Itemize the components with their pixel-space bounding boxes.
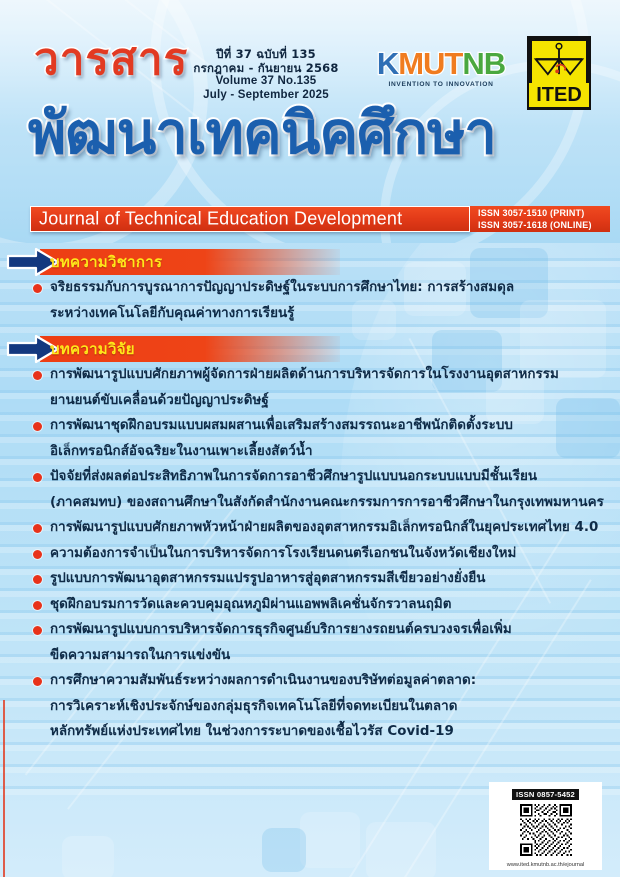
issn-print: ISSN 3057-1510 (PRINT) <box>478 207 610 219</box>
list-item[interactable]: การพัฒนาชุดฝึกอบรมแบบผสมผสานเพื่อเสริมสร… <box>0 413 620 464</box>
article-line: ปัจจัยที่ส่งผลต่อประสิทธิภาพในการจัดการอ… <box>50 464 606 490</box>
bullet-icon <box>33 284 42 293</box>
article-line: ชุดฝึกอบรมการวัดและควบคุมอุณหภูมิผ่านแอพ… <box>50 592 606 618</box>
article-line: ยานยนต์ขับเคลื่อนด้วยปัญญาประดิษฐ์ <box>50 388 606 414</box>
kmutnb-wordmark: KMUTNB <box>372 48 510 79</box>
ited-emblem-plate <box>532 41 586 85</box>
bullet-icon <box>33 575 42 584</box>
section-header-research: บทความวิจัย <box>0 336 620 362</box>
list-item[interactable]: การศึกษาความสัมพันธ์ระหว่างผลการดำเนินงา… <box>0 668 620 745</box>
list-item[interactable]: จริยธรรมกับการบูรณาการปัญญาประดิษฐ์ในระบ… <box>0 275 620 326</box>
qr-code-icon[interactable] <box>520 804 572 856</box>
kmutnb-letter-m: M <box>398 46 423 81</box>
kmutnb-logo: KMUTNB INVENTION TO INNOVATION <box>372 48 510 88</box>
journal-title-english-bar: Journal of Technical Education Developme… <box>30 206 470 232</box>
article-line: การพัฒนารูปแบบการบริหารจัดการธุรกิจศูนย์… <box>50 617 606 643</box>
bullet-icon <box>33 677 42 686</box>
volume-thai-number: ปีที่ 37 ฉบับที่ 135 <box>190 48 342 62</box>
bullet-icon <box>33 473 42 482</box>
journal-title-english: Journal of Technical Education Developme… <box>39 209 402 230</box>
bullet-icon <box>33 550 42 559</box>
article-list-academic: จริยธรรมกับการบูรณาการปัญญาประดิษฐ์ในระบ… <box>0 275 620 326</box>
kmutnb-letters-nb: NB <box>462 46 505 81</box>
article-line: การพัฒนารูปแบบศักยภาพผู้จัดการฝ่ายผลิตด้… <box>50 362 606 388</box>
article-line: ระหว่างเทคโนโลยีกับคุณค่าทางการเรียนรู้ <box>50 301 606 327</box>
bullet-icon <box>33 626 42 635</box>
article-line: การพัฒนารูปแบบศักยภาพหัวหน้าฝ่ายผลิตของอ… <box>50 515 606 541</box>
section-label: บทความวิชาการ <box>50 250 162 274</box>
article-line: (ภาคสมทบ) ของสถานศึกษาในสังกัดสำนักงานคณ… <box>50 490 606 516</box>
masthead: วารสาร ปีที่ 37 ฉบับที่ 135 กรกฎาคม - กั… <box>0 0 620 243</box>
section-header-academic: บทความวิชาการ <box>0 249 620 275</box>
journal-website-url[interactable]: www.ited.kmutnb.ac.th/ejournal <box>489 862 602 868</box>
article-line: การวิเคราะห์เชิงประจักษ์ของกลุ่มธุรกิจเท… <box>50 694 606 720</box>
qr-footer-card: ISSN 0857-5452 <box>489 782 602 870</box>
article-line: รูปแบบการพัฒนาอุตสาหกรรมแปรรูปอาหารสู่อุ… <box>50 566 606 592</box>
article-line: จริยธรรมกับการบูรณาการปัญญาประดิษฐ์ในระบ… <box>50 275 606 301</box>
article-list-research: การพัฒนารูปแบบศักยภาพผู้จัดการฝ่ายผลิตด้… <box>0 362 620 745</box>
issn-online: ISSN 3057-1618 (ONLINE) <box>478 219 610 231</box>
list-item[interactable]: ชุดฝึกอบรมการวัดและควบคุมอุณหภูมิผ่านแอพ… <box>0 592 620 618</box>
article-line: การพัฒนาชุดฝึกอบรมแบบผสมผสานเพื่อเสริมสร… <box>50 413 606 439</box>
bullet-icon <box>33 422 42 431</box>
list-item[interactable]: การพัฒนารูปแบบศักยภาพผู้จัดการฝ่ายผลิตด้… <box>0 362 620 413</box>
bullet-icon <box>33 371 42 380</box>
kmutnb-letters-ut: UT <box>423 46 462 81</box>
article-line: การศึกษาความสัมพันธ์ระหว่างผลการดำเนินงา… <box>50 668 606 694</box>
ited-logo: ITED <box>527 36 591 110</box>
kmutnb-tagline: INVENTION TO INNOVATION <box>372 81 510 88</box>
issn-legacy-badge: ISSN 0857-5452 <box>512 789 579 800</box>
section-label: บทความวิจัย <box>50 337 135 361</box>
list-item[interactable]: ปัจจัยที่ส่งผลต่อประสิทธิภาพในการจัดการอ… <box>0 464 620 515</box>
article-line: อิเล็กทรอนิกส์อัจฉริยะในงานเพาะเลี้ยงสัต… <box>50 439 606 465</box>
volume-thai-period: กรกฎาคม - กันยายน 2568 <box>190 62 342 76</box>
kmutnb-letter-k: K <box>377 46 398 81</box>
list-item[interactable]: ความต้องการจำเป็นในการบริหารจัดการโรงเรี… <box>0 541 620 567</box>
list-item[interactable]: การพัฒนารูปแบบศักยภาพหัวหน้าฝ่ายผลิตของอ… <box>0 515 620 541</box>
article-line: ความต้องการจำเป็นในการบริหารจัดการโรงเรี… <box>50 541 606 567</box>
issn-top-block: ISSN 3057-1510 (PRINT) ISSN 3057-1618 (O… <box>470 206 610 232</box>
bullet-icon <box>33 524 42 533</box>
list-item[interactable]: การพัฒนารูปแบบการบริหารจัดการธุรกิจศูนย์… <box>0 617 620 668</box>
article-line: หลักทรัพย์แห่งประเทศไทย ในช่วงการระบาดขอ… <box>50 719 606 745</box>
journal-cover: วารสาร ปีที่ 37 ฉบับที่ 135 กรกฎาคม - กั… <box>0 0 620 877</box>
journal-title-thai: พัฒนาเทคนิคศึกษา <box>28 104 598 162</box>
article-line: ขีดความสามารถในการแข่งขัน <box>50 643 606 669</box>
masthead-word-warasan: วารสาร <box>34 38 188 82</box>
bullet-icon <box>33 601 42 610</box>
ited-balance-icon <box>532 41 586 85</box>
volume-english-number: Volume 37 No.135 <box>190 75 342 89</box>
list-item[interactable]: รูปแบบการพัฒนาอุตสาหกรรมแปรรูปอาหารสู่อุ… <box>0 566 620 592</box>
volume-info: ปีที่ 37 ฉบับที่ 135 กรกฎาคม - กันยายน 2… <box>190 48 342 102</box>
